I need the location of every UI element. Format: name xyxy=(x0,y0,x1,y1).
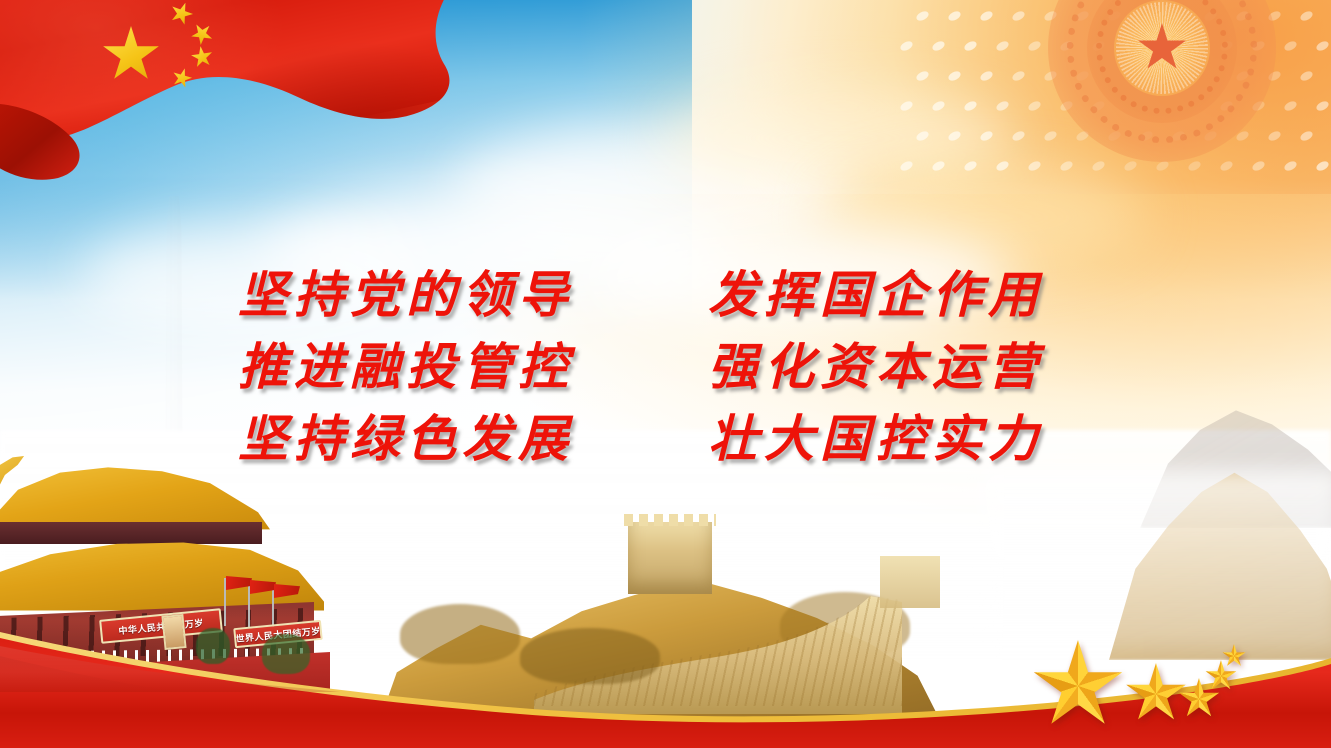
slogan-2-left: 推进融投管控 xyxy=(238,334,708,400)
bush-1 xyxy=(196,628,230,664)
slogan-1-right: 发挥国企作用 xyxy=(708,262,1098,328)
ribbon-star-icon-1 xyxy=(1032,640,1124,732)
slogan-row-1: 坚持党的领导 发挥国企作用 xyxy=(238,262,1098,328)
bush-2 xyxy=(262,634,310,674)
great-wall-tower-far xyxy=(880,556,940,608)
slogan-row-2: 推进融投管控 强化资本运营 xyxy=(238,334,1098,400)
ribbon-star-icon-5 xyxy=(1222,644,1246,668)
slogan-block: 坚持党的领导 发挥国企作用 推进融投管控 强化资本运营 坚持绿色发展 壮大国控实… xyxy=(238,262,1098,478)
great-wall-scene xyxy=(360,500,1000,720)
mountain-haze xyxy=(980,470,1331,650)
slogan-2-right: 强化资本运营 xyxy=(708,334,1098,400)
slogan-row-3: 坚持绿色发展 壮大国控实力 xyxy=(238,406,1098,472)
great-wall-tower xyxy=(628,522,712,594)
sunburst-medallion-icon xyxy=(1048,0,1276,162)
slogan-3-right: 壮大国控实力 xyxy=(708,406,1098,472)
slogan-3-left: 坚持绿色发展 xyxy=(238,406,708,472)
national-flag-icon xyxy=(0,0,502,196)
poster-canvas: 中华人民共和国万岁 世界人民大团结万岁 坚持党的领导 发挥国企作用 推进融投管控… xyxy=(0,0,1331,748)
slogan-1-left: 坚持党的领导 xyxy=(238,262,708,328)
leader-portrait xyxy=(161,614,186,650)
gate-flagpole-1 xyxy=(224,578,226,626)
gate-flagpole-2 xyxy=(248,582,250,628)
